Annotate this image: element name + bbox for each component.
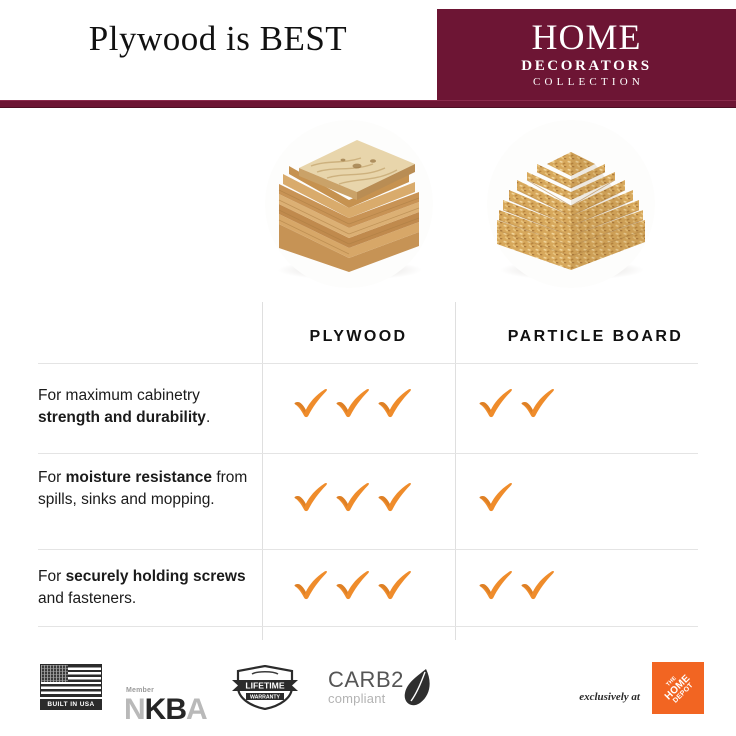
- home-depot-logo: THE HOME DEPOT: [652, 662, 704, 714]
- checkmark-icon: [519, 565, 559, 603]
- checkmark-icon: [477, 383, 517, 421]
- row-3-plywood-checks: [262, 561, 455, 607]
- lifetime-warranty-badge: LIFETIME WARRANTY: [230, 665, 306, 710]
- checkmark-icon: [334, 477, 374, 515]
- table-row: For securely holding screws and fastener…: [0, 549, 736, 626]
- particle-board-photo-disc: [487, 120, 655, 288]
- carb2-text-block: CARB2 compliant: [328, 669, 404, 706]
- product-photos: [0, 112, 736, 294]
- column-header-particle-board: PARTICLE BOARD: [455, 322, 736, 352]
- row-label-2: For moisture resistance from spills, sin…: [38, 467, 250, 511]
- header-divider-bar: [0, 100, 736, 108]
- row-label-3-post: and fasteners.: [38, 590, 136, 607]
- carb2-word: CARB2: [328, 669, 404, 691]
- checkmark-icon: [376, 383, 416, 421]
- shield-icon: LIFETIME WARRANTY: [230, 665, 300, 710]
- warranty-text: WARRANTY: [250, 694, 281, 700]
- carb2-sub: compliant: [328, 691, 404, 706]
- checkmark-icon: [519, 383, 559, 421]
- table-row: For maximum cabinetry strength and durab…: [0, 363, 736, 453]
- built-in-usa-badge: BUILT IN USA: [40, 664, 102, 710]
- row-label-3-pre: For: [38, 568, 66, 585]
- checkmark-icon: [334, 383, 374, 421]
- nkba-letters-kb: KB: [145, 693, 186, 726]
- checkmark-icon: [292, 383, 332, 421]
- nkba-wordmark: NKBA: [124, 695, 207, 725]
- row-label-1-bold: strength and durability: [38, 409, 206, 426]
- row-label-1-post: .: [206, 409, 210, 426]
- plywood-photo-disc: [265, 120, 433, 288]
- row-label-2-pre: For: [38, 469, 66, 486]
- row-label-3-bold: securely holding screws: [66, 568, 246, 585]
- row-label-1: For maximum cabinetry strength and durab…: [38, 385, 250, 429]
- home-depot-logo-text: THE HOME DEPOT: [650, 660, 707, 717]
- row-1-particle-checks: [455, 379, 736, 425]
- checkmark-icon: [334, 565, 374, 603]
- footer: BUILT IN USA Member NKBA LIFETIME: [0, 650, 736, 736]
- infographic-page: Plywood is BEST HOME DECORATORS COLLECTI…: [0, 0, 736, 736]
- checkmark-icon: [477, 477, 517, 515]
- row-3-particle-checks: [455, 561, 736, 607]
- checkmark-icon: [292, 477, 332, 515]
- us-flag-icon: [40, 664, 102, 697]
- brand-logo: HOME DECORATORS COLLECTION: [437, 9, 736, 100]
- brand-logo-line-home: HOME: [532, 19, 642, 55]
- header: Plywood is BEST HOME DECORATORS COLLECTI…: [0, 0, 736, 108]
- certification-badges: BUILT IN USA Member NKBA LIFETIME: [40, 664, 460, 710]
- brand-logo-line-decorators: DECORATORS: [521, 57, 651, 75]
- lifetime-warranty-shield-svg: LIFETIME WARRANTY: [230, 665, 300, 710]
- leaf-icon-svg: [402, 667, 432, 707]
- lifetime-text: LIFETIME: [245, 680, 284, 690]
- flag-canton: [41, 665, 68, 682]
- column-header-plywood: PLYWOOD: [262, 322, 455, 352]
- leaf-icon: [402, 667, 432, 707]
- page-title: Plywood is BEST: [0, 14, 436, 64]
- row-label-1-pre: For maximum cabinetry: [38, 387, 200, 404]
- nkba-letter-n: N: [124, 693, 145, 726]
- brand-logo-line-collection: COLLECTION: [529, 75, 644, 90]
- particle-board-illustration: [487, 120, 655, 288]
- checkmark-icon: [376, 477, 416, 515]
- row-label-2-bold: moisture resistance: [66, 469, 212, 486]
- row-label-3: For securely holding screws and fastener…: [38, 566, 250, 610]
- carb2-compliant-badge: CARB2 compliant: [328, 667, 438, 707]
- nkba-letter-a: A: [186, 693, 207, 726]
- row-2-plywood-checks: [262, 473, 455, 519]
- table-rule-3: [38, 626, 698, 627]
- plywood-illustration: [265, 120, 433, 288]
- built-in-usa-caption: BUILT IN USA: [40, 699, 102, 710]
- particle-board-photo: [487, 120, 663, 288]
- table-row: For moisture resistance from spills, sin…: [0, 453, 736, 549]
- exclusively-at-text: exclusively at: [579, 691, 640, 703]
- checkmark-icon: [292, 565, 332, 603]
- row-1-plywood-checks: [262, 379, 455, 425]
- checkmark-icon: [376, 565, 416, 603]
- checkmark-icon: [477, 565, 517, 603]
- plywood-photo: [265, 120, 441, 288]
- row-2-particle-checks: [455, 473, 736, 519]
